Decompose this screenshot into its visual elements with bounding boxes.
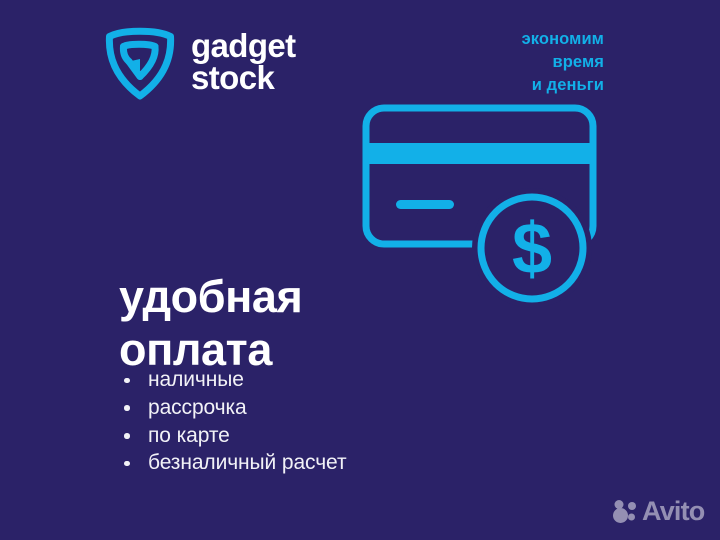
list-item: наличные	[121, 366, 346, 394]
bullet-icon	[124, 433, 130, 439]
tagline-line-3: и деньги	[522, 74, 604, 97]
list-item: безналичный расчет	[121, 449, 346, 477]
brand-wordmark: gadget stock	[191, 30, 296, 94]
shield-icon	[103, 24, 177, 100]
list-item: по карте	[121, 422, 346, 450]
magnetic-stripe	[366, 143, 593, 164]
list-item: рассрочка	[121, 394, 346, 422]
tagline: экономим время и деньги	[522, 28, 604, 96]
brand-name-line-1: gadget	[191, 30, 296, 62]
payment-methods-list: наличные рассрочка по карте безналичный …	[121, 366, 346, 477]
list-item-label: рассрочка	[148, 396, 247, 419]
brand-logo: gadget stock	[103, 24, 296, 100]
credit-card-with-dollar-coin-icon: $	[358, 98, 604, 310]
headline-line-1: удобная	[119, 270, 302, 323]
signature-strip	[396, 200, 454, 209]
page-title: удобная оплата	[119, 270, 302, 376]
bullet-icon	[124, 461, 130, 467]
tagline-line-2: время	[522, 51, 604, 74]
svg-text:$: $	[512, 209, 552, 289]
list-item-label: безналичный расчет	[148, 451, 346, 474]
list-item-label: наличные	[148, 368, 244, 391]
promo-banner: gadget stock экономим время и деньги $	[0, 0, 720, 540]
avito-dots-icon	[612, 499, 638, 525]
avito-wordmark: Avito	[642, 498, 705, 525]
brand-name-line-2: stock	[191, 62, 296, 94]
list-item-label: по карте	[148, 424, 230, 447]
tagline-line-1: экономим	[522, 28, 604, 51]
avito-watermark: Avito	[612, 498, 705, 525]
bullet-icon	[124, 405, 130, 411]
bullet-icon	[124, 378, 130, 384]
